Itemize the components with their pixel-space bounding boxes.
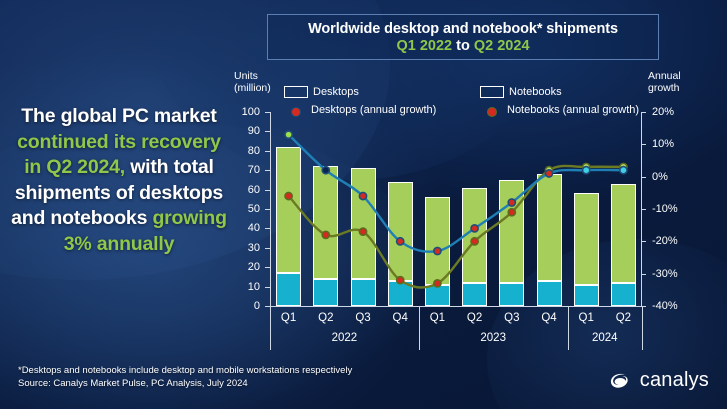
notebook-growth-marker[interactable] [397, 277, 404, 284]
legend-item-notebooks[interactable]: Notebooks [480, 86, 562, 98]
left-axis-tick-label: 100 [226, 106, 260, 118]
headline-text: The global PC market continued its recov… [8, 104, 230, 257]
x-axis-group-separator [568, 306, 569, 350]
right-axis-tick [641, 177, 646, 178]
right-axis-tick [641, 209, 646, 210]
left-axis-tick-label: 60 [226, 184, 260, 196]
left-axis-tick-label: 50 [226, 203, 260, 215]
range-joiner: to [452, 38, 474, 54]
chart-title: Worldwide desktop and notebook* shipment… [308, 21, 618, 37]
right-axis-tick-label: 10% [652, 138, 698, 150]
infographic-root: The global PC market continued its recov… [0, 0, 727, 409]
x-axis-quarter-label: Q4 [382, 312, 419, 324]
desktop-growth-marker[interactable] [583, 167, 590, 174]
right-axis-tick-label: -30% [652, 268, 698, 280]
source-text: Source: Canalys Market Pulse, PC Analysi… [18, 377, 352, 390]
left-axis-tick-label: 0 [226, 300, 260, 312]
right-axis-tick-label: -10% [652, 203, 698, 215]
left-axis-tick [265, 131, 270, 132]
left-axis-tick-label: 90 [226, 125, 260, 137]
left-axis-tick [265, 112, 270, 113]
notebook-growth-marker[interactable] [322, 231, 329, 238]
x-axis-quarter-label: Q3 [493, 312, 530, 324]
left-axis-tick-label: 10 [226, 281, 260, 293]
notebooks-swatch-icon [480, 86, 504, 98]
left-axis-caption-line2: (million) [234, 82, 271, 94]
left-axis-caption-line1: Units [234, 70, 271, 82]
desktop-growth-marker[interactable] [545, 170, 552, 177]
x-axis-quarter-label: Q1 [270, 312, 307, 324]
range-to: Q2 2024 [474, 38, 530, 54]
desktops-swatch-icon [284, 86, 308, 98]
right-axis-caption-line1: Annual [648, 70, 681, 82]
left-axis-tick-label: 40 [226, 222, 260, 234]
desktop-growth-marker[interactable] [620, 167, 627, 174]
left-axis-tick-label: 30 [226, 242, 260, 254]
left-axis-tick [265, 228, 270, 229]
right-axis-tick-label: 20% [652, 106, 698, 118]
right-axis-tick [641, 112, 646, 113]
notebook-growth-path [289, 166, 624, 288]
desktop-growth-marker[interactable] [508, 199, 515, 206]
x-axis-quarter-label: Q3 [345, 312, 382, 324]
footer-notes: *Desktops and notebooks include desktop … [18, 364, 352, 390]
x-axis-year-label: 2022 [270, 332, 419, 344]
left-axis-tick [265, 170, 270, 171]
legend-label-notebooks: Notebooks [509, 86, 562, 98]
legend-label-desktops: Desktops [313, 86, 359, 98]
growth-lines [270, 112, 642, 306]
left-axis-tick [265, 151, 270, 152]
notebook-growth-marker[interactable] [434, 280, 441, 287]
left-axis-tick [265, 267, 270, 268]
desktop-growth-marker[interactable] [322, 167, 329, 174]
desktop-growth-marker[interactable] [397, 238, 404, 245]
desktop-growth-marker[interactable] [434, 247, 441, 254]
left-axis-tick [265, 209, 270, 210]
left-axis-caption: Units (million) [234, 70, 271, 94]
left-axis-tick [265, 287, 270, 288]
right-axis-tick [641, 241, 646, 242]
chart-plot-area: 100908070605040302010020%10%0%-10%-20%-3… [270, 112, 642, 306]
left-axis-tick-label: 70 [226, 164, 260, 176]
x-axis-group-separator [270, 306, 271, 350]
notebook-growth-marker[interactable] [508, 209, 515, 216]
canalys-logo: canalys [607, 368, 709, 392]
chart-title-box: Worldwide desktop and notebook* shipment… [267, 14, 659, 60]
x-axis-group-separator [642, 306, 643, 350]
x-axis-quarter-label: Q1 [419, 312, 456, 324]
chart-title-range: Q1 2022 to Q2 2024 [396, 38, 529, 54]
x-axis-year-label: 2023 [419, 332, 568, 344]
x-axis: Q1Q2Q3Q4Q1Q2Q3Q4Q1Q2202220232024 [270, 306, 642, 352]
x-axis-year-label: 2024 [568, 332, 642, 344]
notebook-growth-marker[interactable] [471, 238, 478, 245]
left-axis-tick-label: 20 [226, 261, 260, 273]
desktop-growth-marker[interactable] [285, 131, 292, 138]
canalys-wordmark: canalys [640, 369, 709, 392]
legend-item-desktops[interactable]: Desktops [284, 86, 359, 98]
x-axis-quarter-label: Q2 [456, 312, 493, 324]
right-axis-tick-label: 0% [652, 171, 698, 183]
x-axis-group-separator [419, 306, 420, 350]
right-axis-tick-label: -40% [652, 300, 698, 312]
x-axis-quarter-label: Q2 [605, 312, 642, 324]
range-from: Q1 2022 [396, 38, 452, 54]
canalys-mark-icon [607, 368, 633, 392]
desktop-growth-marker[interactable] [359, 192, 366, 199]
desktop-growth-marker[interactable] [471, 225, 478, 232]
x-axis-quarter-label: Q4 [531, 312, 568, 324]
notebook-growth-marker[interactable] [285, 192, 292, 199]
notebook-growth-marker[interactable] [359, 228, 366, 235]
x-axis-quarter-label: Q1 [568, 312, 605, 324]
left-axis-tick [265, 190, 270, 191]
left-axis-tick-label: 80 [226, 145, 260, 157]
footnote-text: *Desktops and notebooks include desktop … [18, 364, 352, 377]
left-axis-tick [265, 248, 270, 249]
x-axis-quarter-label: Q2 [307, 312, 344, 324]
right-axis-tick [641, 274, 646, 275]
right-axis-tick-label: -20% [652, 235, 698, 247]
headline-part-0: The global PC market [21, 105, 216, 127]
right-axis-tick [641, 144, 646, 145]
